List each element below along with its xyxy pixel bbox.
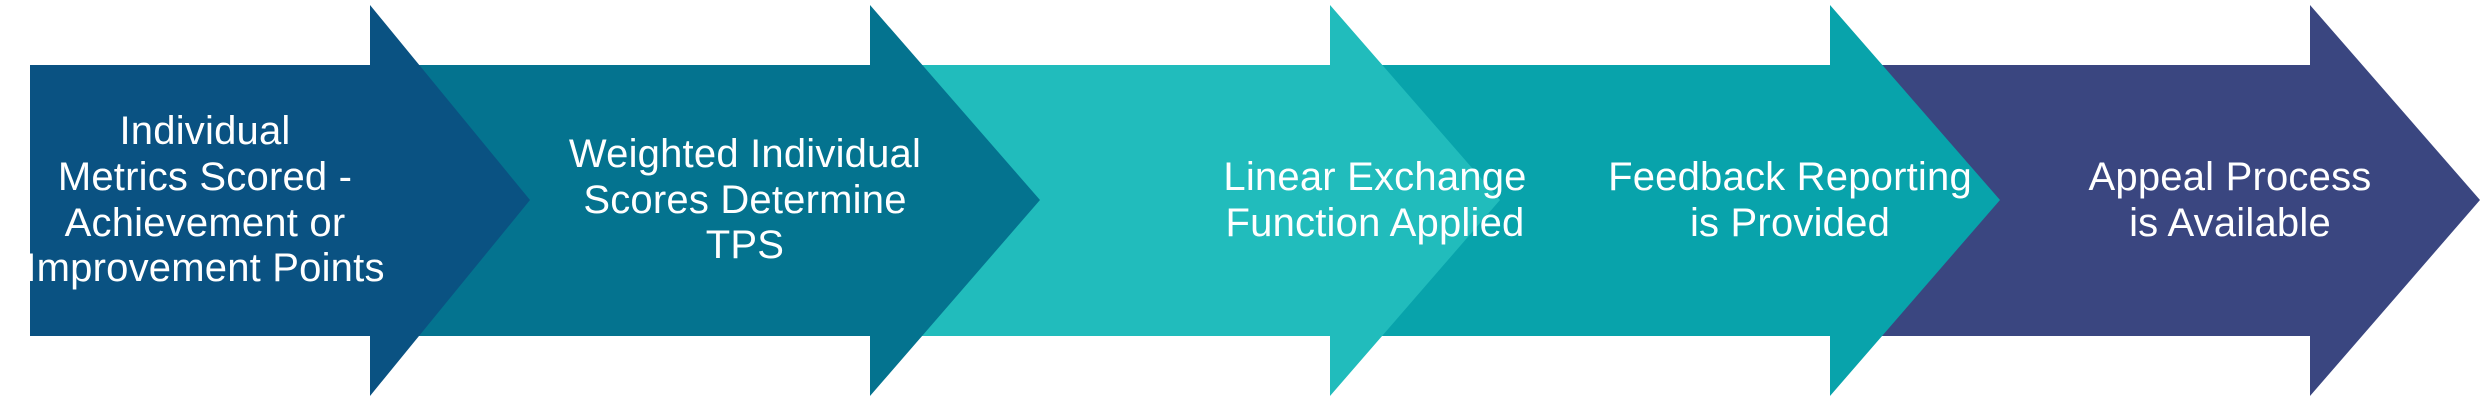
arrow-step-1[interactable] bbox=[30, 5, 530, 396]
flow-arrows-svg bbox=[0, 0, 2489, 401]
process-flow-diagram: Individual Metrics Scored - Achievement … bbox=[0, 0, 2489, 401]
arrow-group bbox=[30, 5, 2480, 396]
